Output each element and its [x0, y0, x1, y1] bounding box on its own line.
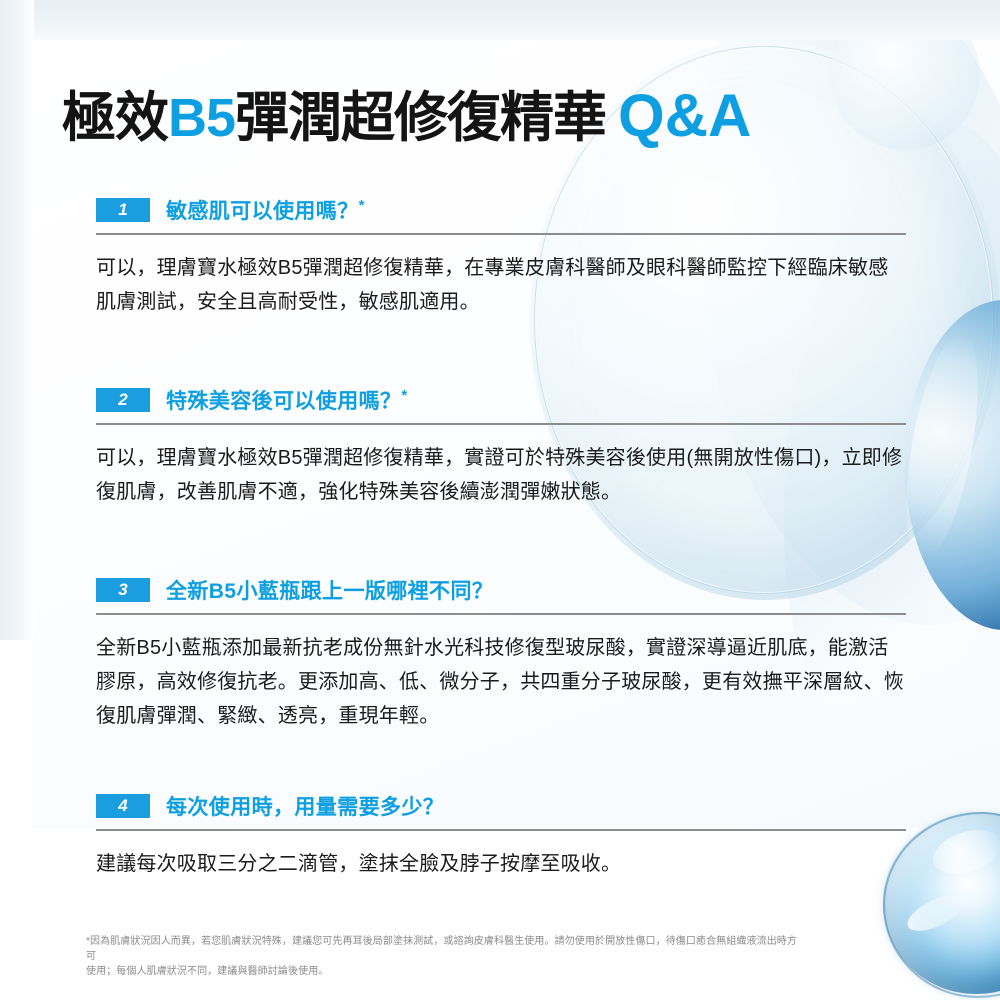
page-title: 極效B5彈潤超修復精華Q&A — [62, 86, 751, 148]
title-part-two: 彈潤超修復精華 — [235, 88, 606, 148]
faq-number-badge-4: 4 — [96, 794, 150, 818]
faq-question-text-1: 敏感肌可以使用嗎？* — [166, 195, 365, 225]
faq-question-label-2: 特殊美容後可以使用嗎？ — [166, 390, 401, 413]
faq-item-4[interactable]: 4 每次使用時，用量需要多少？ 建議每次吸取三分之二滴管，塗抹全臉及脖子按摩至吸… — [96, 792, 906, 881]
faq-question-asterisk-2: * — [401, 387, 407, 404]
faq-question-text-3: 全新B5小藍瓶跟上一版哪裡不同？ — [166, 575, 493, 605]
faq-divider-1 — [96, 233, 906, 235]
faq-divider-3 — [96, 613, 906, 615]
faq-number-badge-2: 2 — [96, 388, 150, 412]
faq-number-badge-3: 3 — [96, 578, 150, 602]
faq-question-asterisk-1: * — [359, 197, 365, 214]
faq-answer-text-4: 建議每次吸取三分之二滴管，塗抹全臉及脖子按摩至吸收。 — [96, 847, 906, 881]
faq-divider-4 — [96, 829, 906, 831]
footnote-line-1: *因為肌膚狀況因人而異，若您肌膚狀況特殊，建議您可先再耳後局部塗抹測試，或諮詢皮… — [86, 934, 806, 964]
footnote-line-2: 使用；每個人肌膚狀況不同，建議與醫師討論後使用。 — [86, 964, 806, 979]
faq-question-label-3: 全新B5小藍瓶跟上一版哪裡不同？ — [166, 580, 493, 603]
faq-question-header-2[interactable]: 2 特殊美容後可以使用嗎？* — [96, 386, 906, 414]
faq-question-header-1[interactable]: 1 敏感肌可以使用嗎？* — [96, 196, 906, 224]
faq-answer-text-3: 全新B5小藍瓶添加最新抗老成份無針水光科技修復型玻尿酸，實證深導逼近肌底，能激活… — [96, 631, 906, 733]
faq-item-1[interactable]: 1 敏感肌可以使用嗎？* 可以，理膚寶水極效B5彈潤超修復精華，在專業皮膚科醫師… — [96, 196, 906, 319]
faq-item-2[interactable]: 2 特殊美容後可以使用嗎？* 可以，理膚寶水極效B5彈潤超修復精華，實證可於特殊… — [96, 386, 906, 509]
faq-answer-text-1: 可以，理膚寶水極效B5彈潤超修復精華，在專業皮膚科醫師及眼科醫師監控下經臨床敏感… — [96, 251, 906, 319]
faq-answer-4: 建議每次吸取三分之二滴管，塗抹全臉及脖子按摩至吸收。 — [96, 847, 906, 881]
faq-question-header-4[interactable]: 4 每次使用時，用量需要多少？ — [96, 792, 906, 820]
title-part-one: 極效 — [62, 88, 168, 148]
faq-question-header-3[interactable]: 3 全新B5小藍瓶跟上一版哪裡不同？ — [96, 576, 906, 604]
faq-answer-3: 全新B5小藍瓶添加最新抗老成份無針水光科技修復型玻尿酸，實證深導逼近肌底，能激活… — [96, 631, 906, 733]
title-b5-highlight: B5 — [168, 88, 235, 148]
footnote-disclaimer: *因為肌膚狀況因人而異，若您肌膚狀況特殊，建議您可先再耳後局部塗抹測試，或諮詢皮… — [86, 934, 806, 979]
faq-question-text-2: 特殊美容後可以使用嗎？* — [166, 385, 408, 415]
faq-divider-2 — [96, 423, 906, 425]
faq-item-3[interactable]: 3 全新B5小藍瓶跟上一版哪裡不同？ 全新B5小藍瓶添加最新抗老成份無針水光科技… — [96, 576, 906, 733]
title-qa-label: Q&A — [618, 82, 751, 149]
faq-answer-1: 可以，理膚寶水極效B5彈潤超修復精華，在專業皮膚科醫師及眼科醫師監控下經臨床敏感… — [96, 251, 906, 319]
page-content: 極效B5彈潤超修復精華Q&A 1 敏感肌可以使用嗎？* 可以，理膚寶水極效B5彈… — [0, 0, 1000, 1000]
faq-question-text-4: 每次使用時，用量需要多少？ — [166, 791, 444, 821]
faq-page: 極效B5彈潤超修復精華Q&A 1 敏感肌可以使用嗎？* 可以，理膚寶水極效B5彈… — [0, 0, 1000, 1000]
faq-question-label-4: 每次使用時，用量需要多少？ — [166, 796, 444, 819]
faq-number-badge-1: 1 — [96, 198, 150, 222]
faq-answer-2: 可以，理膚寶水極效B5彈潤超修復精華，實證可於特殊美容後使用(無開放性傷口)，立… — [96, 441, 906, 509]
faq-answer-text-2: 可以，理膚寶水極效B5彈潤超修復精華，實證可於特殊美容後使用(無開放性傷口)，立… — [96, 441, 906, 509]
faq-question-label-1: 敏感肌可以使用嗎？ — [166, 200, 359, 223]
